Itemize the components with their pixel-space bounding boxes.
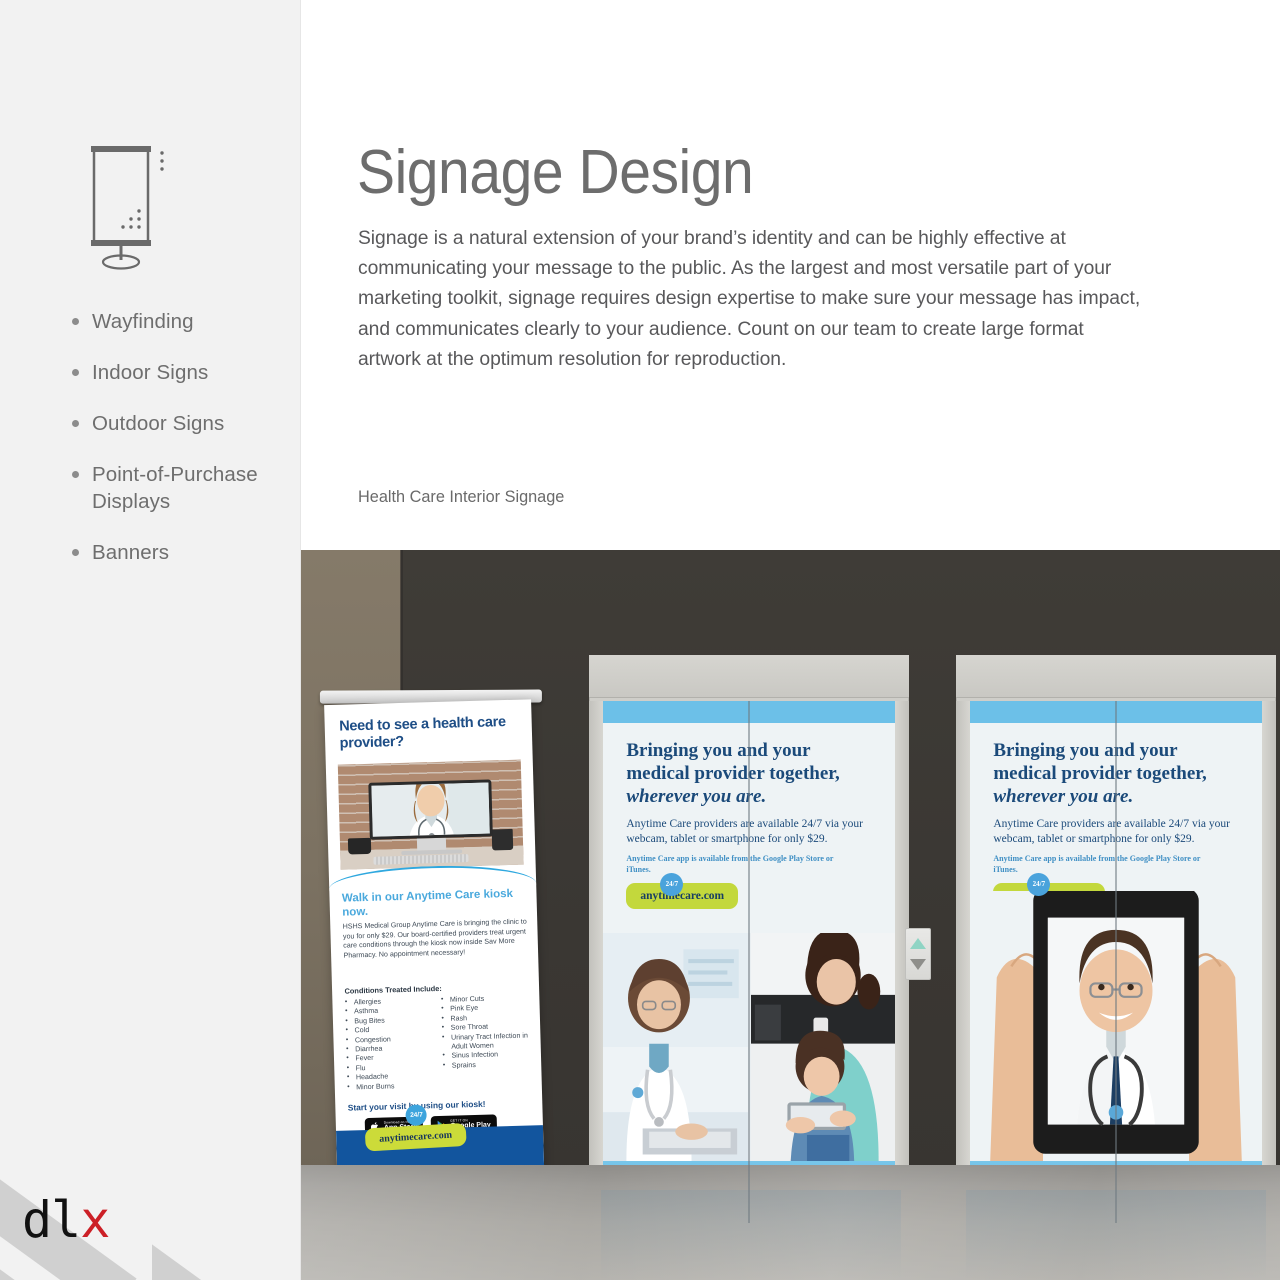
sign-headline: Bringing you and your medical provider t… xyxy=(626,739,877,808)
bullet-icon xyxy=(72,471,79,478)
sign-headline-line1: Bringing you and your xyxy=(626,740,810,761)
sidebar: Wayfinding Indoor Signs Outdoor Signs Po… xyxy=(0,0,301,1280)
pen-cup xyxy=(491,829,513,851)
elevator-left: Bringing you and your medical provider t… xyxy=(589,655,909,1223)
list-item: Minor Burns xyxy=(347,1081,437,1093)
sign-headline-line1: Bringing you and your xyxy=(993,740,1177,761)
sidebar-item-banners[interactable]: Banners xyxy=(62,539,294,566)
sign-headline-line2: medical provider together, xyxy=(993,763,1206,784)
logo-text-dark: dl xyxy=(22,1191,80,1249)
bullet-icon xyxy=(72,420,79,427)
elevator-jamb-left xyxy=(956,701,970,1223)
sign-fineprint: Anytime Care app is available from the G… xyxy=(993,853,1221,875)
banner-cta: Start your visit by using our kiosk! xyxy=(348,1097,535,1112)
elevator-door-graphic[interactable]: Bringing you and your medical provider t… xyxy=(970,701,1262,1223)
sidebar-item-wayfinding[interactable]: Wayfinding xyxy=(62,308,294,335)
elevator-lintel xyxy=(956,655,1276,698)
diagonal-stripes-right xyxy=(152,1040,301,1280)
banner-headline: Need to see a health care provider? xyxy=(339,714,522,753)
sign-headline-italic: wherever you are. xyxy=(626,785,877,808)
sidebar-item-label: Outdoor Signs xyxy=(92,412,224,435)
list-item: Sprains xyxy=(443,1059,533,1071)
elevator-door-seam xyxy=(748,701,750,1223)
bullet-icon xyxy=(72,369,79,376)
project-photo: Bringing you and your medical provider t… xyxy=(301,550,1280,1280)
monitor-screen xyxy=(371,782,490,836)
banner-subhead: Walk in our Anytime Care kiosk now. xyxy=(342,888,525,920)
sign-headline: Bringing you and your medical provider t… xyxy=(993,739,1244,808)
sign-headline-line2: medical provider together, xyxy=(626,763,839,784)
banner-monitor-photo xyxy=(338,760,523,870)
sidebar-item-label: Banners xyxy=(92,541,169,564)
banner-conditions-columns: Allergies Asthma Bug Bites Cold Congesti… xyxy=(345,993,534,1092)
bullet-icon xyxy=(72,318,79,325)
coffee-mug xyxy=(348,837,372,854)
elevator-right: Bringing you and your medical provider t… xyxy=(956,655,1276,1223)
intro-paragraph: Signage is a natural extension of your b… xyxy=(358,224,1148,375)
page-title: Signage Design xyxy=(357,137,753,209)
elevator-jamb-right xyxy=(1262,701,1276,1223)
elevator-door-graphic[interactable]: Bringing you and your medical provider t… xyxy=(603,701,895,1223)
banner-stand-icon xyxy=(86,143,178,273)
sidebar-item-indoor-signs[interactable]: Indoor Signs xyxy=(62,359,294,386)
sidebar-service-list: Wayfinding Indoor Signs Outdoor Signs Po… xyxy=(62,308,294,590)
logo-text-accent: x xyxy=(80,1191,109,1249)
floor-reflection-left-door xyxy=(601,1190,901,1280)
sidebar-item-outdoor-signs[interactable]: Outdoor Signs xyxy=(62,410,294,437)
monitor-stand xyxy=(417,837,446,850)
list-item: Urinary Tract Infection in Adult Women xyxy=(442,1031,533,1052)
banner-conditions-heading: Conditions Treated Include: xyxy=(344,984,442,996)
rollup-banner-stand[interactable]: Need to see a health care provider? xyxy=(324,687,553,1213)
down-arrow-icon[interactable] xyxy=(910,959,926,970)
elevator-jamb-left xyxy=(589,701,603,1223)
sidebar-item-point-of-purchase-displays[interactable]: Point-of-Purchase Displays xyxy=(62,461,294,515)
photo-caption: Health Care Interior Signage xyxy=(358,486,564,508)
up-arrow-icon[interactable] xyxy=(910,938,926,949)
photo-doctor-at-laptop xyxy=(603,933,748,1161)
sidebar-item-label: Wayfinding xyxy=(92,310,194,333)
elevator-call-panel[interactable] xyxy=(905,928,931,980)
banner-body-copy: HSHS Medical Group Anytime Care is bring… xyxy=(343,918,528,962)
sidebar-item-label: Indoor Signs xyxy=(92,361,208,384)
page-root: Wayfinding Indoor Signs Outdoor Signs Po… xyxy=(0,0,1280,1280)
bullet-icon xyxy=(72,549,79,556)
sign-headline-italic: wherever you are. xyxy=(993,785,1244,808)
dlx-logo[interactable]: dlx xyxy=(22,1190,109,1250)
sign-fineprint: Anytime Care app is available from the G… xyxy=(626,853,854,875)
photo-mother-and-child-with-tablet xyxy=(748,933,896,1161)
conditions-column-right: Minor Cuts Pink Eye Rash Sore Throat Uri… xyxy=(441,993,534,1090)
banner-canvas: Need to see a health care provider? xyxy=(324,699,544,1175)
elevator-door-seam xyxy=(1115,701,1117,1223)
conditions-column-left: Allergies Asthma Bug Bites Cold Congesti… xyxy=(345,996,438,1093)
elevator-lintel xyxy=(589,655,909,698)
monitor-frame xyxy=(368,779,493,839)
sidebar-item-label: Point-of-Purchase Displays xyxy=(92,463,258,513)
